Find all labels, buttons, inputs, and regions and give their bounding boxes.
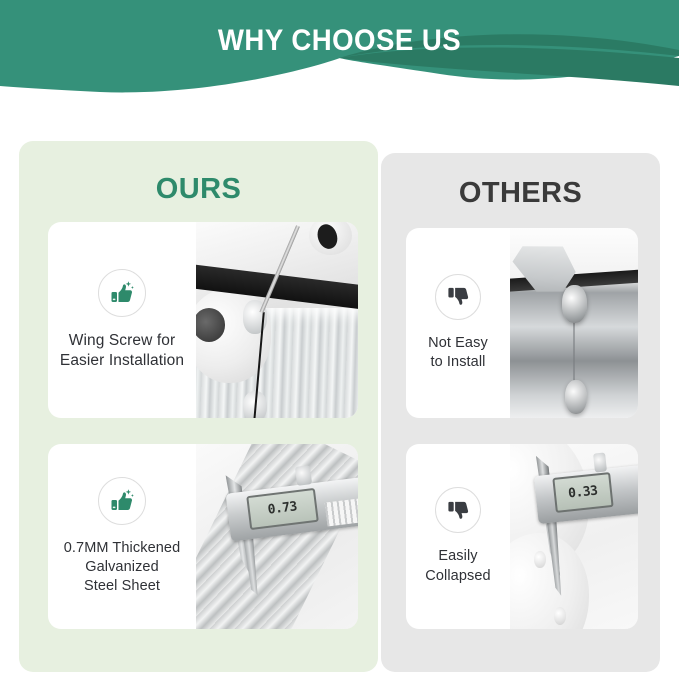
header-banner: WHY CHOOSE US — [0, 0, 679, 100]
caption-line: Wing Screw for — [60, 331, 184, 351]
caliper-reading: 0.33 — [567, 484, 598, 502]
caption-line: Easily — [425, 547, 490, 566]
thumbs-down-icon — [435, 274, 481, 320]
caption-line: 0.7MM Thickened — [64, 539, 180, 558]
why-choose-us-infographic: WHY CHOOSE US OURS Wing Screw for Easier… — [0, 0, 679, 679]
panel-heading-others: OTHERS — [381, 177, 660, 210]
card-caption: Wing Screw for Easier Installation — [60, 331, 184, 372]
caliper-reading: 0.73 — [267, 500, 298, 518]
thumbs-up-sparkle-icon — [98, 269, 146, 317]
card-text-block: Wing Screw for Easier Installation — [48, 222, 196, 418]
caption-line: to Install — [428, 353, 488, 372]
card-caption: Not Easy to Install — [428, 334, 488, 372]
card-text-block: Easily Collapsed — [406, 444, 510, 629]
card-others-easily-collapsed: Easily Collapsed 0.33 — [406, 444, 638, 629]
card-text-block: 0.7MM Thickened Galvanized Steel Sheet — [48, 444, 196, 629]
panel-heading-ours: OURS — [19, 173, 378, 206]
card-image-wing-screw — [196, 222, 358, 418]
card-caption: 0.7MM Thickened Galvanized Steel Sheet — [64, 539, 180, 596]
card-ours-wing-screw: Wing Screw for Easier Installation — [48, 222, 358, 418]
card-ours-steel-thickness: 0.7MM Thickened Galvanized Steel Sheet 0… — [48, 444, 358, 629]
page-title: WHY CHOOSE US — [27, 24, 652, 58]
caption-line: Easier Installation — [60, 351, 184, 371]
caption-line: Collapsed — [425, 567, 490, 586]
caption-line: Galvanized — [64, 558, 180, 577]
card-image-wrench-bolts — [510, 228, 638, 418]
thumbs-up-sparkle-icon — [98, 477, 146, 525]
caption-line: Not Easy — [428, 334, 488, 353]
card-text-block: Not Easy to Install — [406, 228, 510, 418]
thumbs-down-icon — [435, 487, 481, 533]
card-image-caliper-others: 0.33 — [510, 444, 638, 629]
card-others-not-easy-install: Not Easy to Install — [406, 228, 638, 418]
caliper-display-others: 0.33 — [552, 473, 613, 514]
caption-line: Steel Sheet — [64, 577, 180, 596]
card-image-caliper-ours: 0.73 — [196, 444, 358, 629]
card-caption: Easily Collapsed — [425, 547, 490, 585]
